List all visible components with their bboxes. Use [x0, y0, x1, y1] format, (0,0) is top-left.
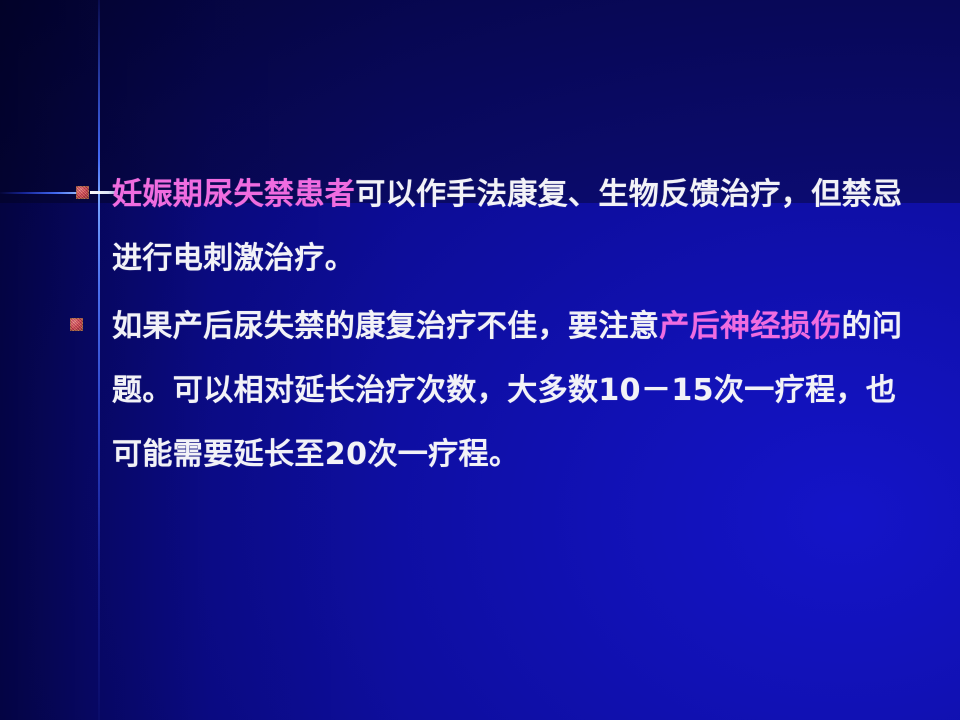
- paragraph-2: 如果产后尿失禁的康复治疗不佳，要注意产后神经损伤的问题。可以相对延长治疗次数，大…: [112, 295, 912, 487]
- bullet-marker-icon: [76, 186, 89, 199]
- paragraph-1-run-1-highlight: 妊娠期尿失禁患者: [112, 177, 355, 212]
- paragraph-1: 妊娠期尿失禁患者可以作手法康复、生物反馈治疗，但禁忌进行电刺激治疗。: [112, 163, 912, 291]
- bullet-marker-icon: [70, 318, 83, 331]
- slide-body-text: 妊娠期尿失禁患者可以作手法康复、生物反馈治疗，但禁忌进行电刺激治疗。 如果产后尿…: [112, 163, 912, 487]
- vertical-accent-rule: [98, 0, 100, 720]
- horizontal-accent-rule: [0, 192, 80, 194]
- presentation-slide: 妊娠期尿失禁患者可以作手法康复、生物反馈治疗，但禁忌进行电刺激治疗。 如果产后尿…: [0, 0, 960, 720]
- paragraph-2-run-2-highlight: 产后神经损伤: [659, 309, 841, 344]
- paragraph-2-run-1: 如果产后尿失禁的康复治疗不佳，要注意: [112, 309, 659, 344]
